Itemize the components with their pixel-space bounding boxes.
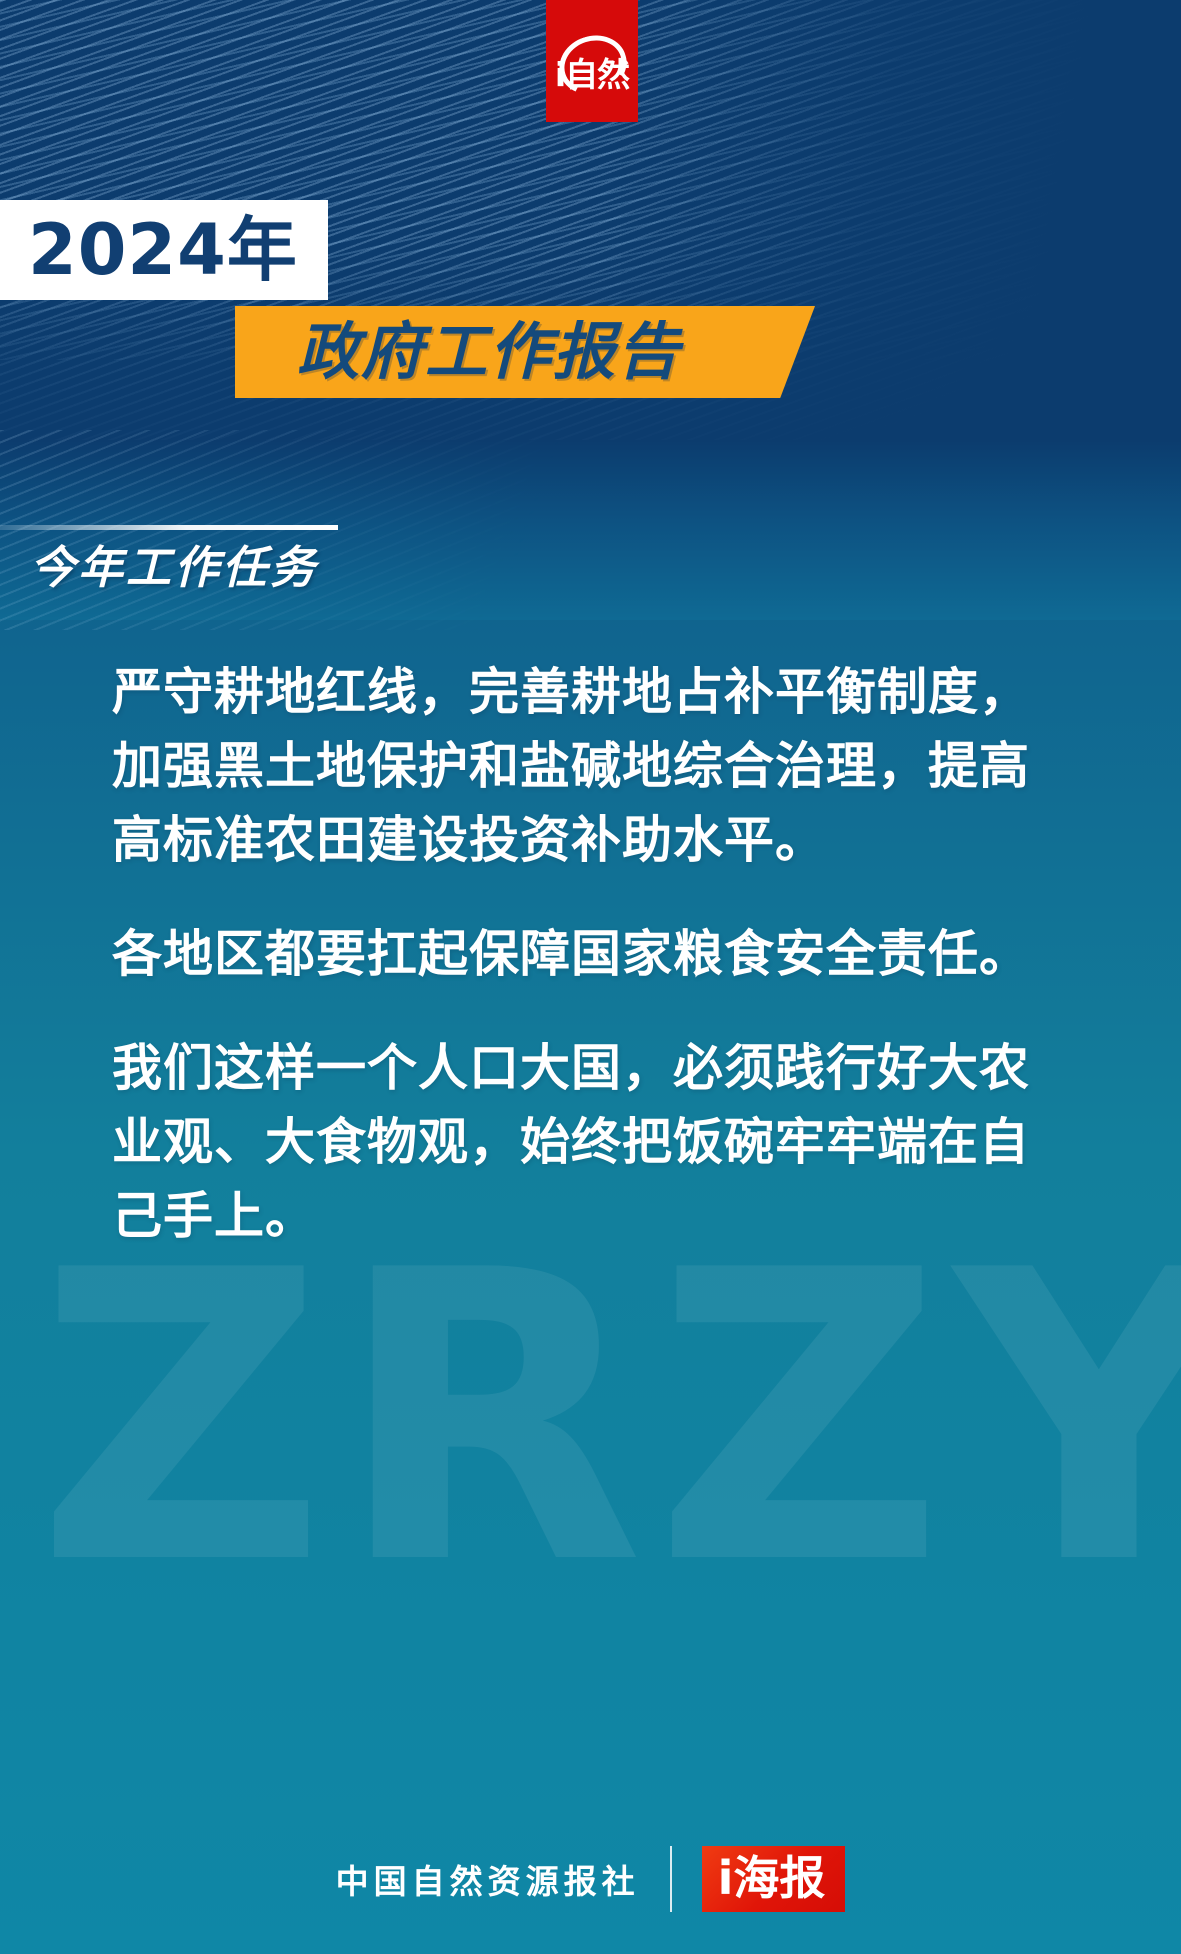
logo-inner: i自然: [546, 0, 638, 122]
footer-divider: [670, 1846, 672, 1912]
publisher-label: 中国自然资源报社: [336, 1855, 640, 1903]
ihaibao-label: i海报: [718, 1855, 826, 1901]
report-title-label: 政府工作报告: [297, 321, 681, 383]
body-content: 严守耕地红线，完善耕地占补平衡制度，加强黑土地保护和盐碱地综合治理，提高高标准农…: [112, 655, 1072, 1293]
watermark: ZRZY: [0, 1264, 1181, 1824]
izirin-logo-badge: i自然: [546, 0, 638, 122]
poster-root: i自然 2024年 政府工作报告 今年工作任务 ZRZY 严守耕地红线，完善耕地…: [0, 0, 1181, 1954]
year-label: 2024年: [28, 215, 298, 285]
body-paragraph: 各地区都要扛起保障国家粮食安全责任。: [112, 917, 1072, 991]
year-box: 2024年: [0, 200, 328, 300]
ihaibao-badge: i海报: [702, 1846, 846, 1912]
footer: 中国自然资源报社 i海报: [0, 1804, 1181, 1954]
logo-label: i自然: [546, 58, 638, 91]
body-paragraph: 严守耕地红线，完善耕地占补平衡制度，加强黑土地保护和盐碱地综合治理，提高高标准农…: [112, 655, 1072, 877]
body-paragraph: 我们这样一个人口大国，必须践行好大农业观、大食物观，始终把饭碗牢牢端在自己手上。: [112, 1031, 1072, 1253]
report-title-banner: 政府工作报告: [235, 306, 815, 398]
section-title: 今年工作任务: [30, 540, 318, 596]
watermark-text: ZRZY: [36, 1264, 1181, 1620]
mid-diagonal-hatch: [0, 430, 620, 630]
section-title-rule: [0, 525, 338, 530]
